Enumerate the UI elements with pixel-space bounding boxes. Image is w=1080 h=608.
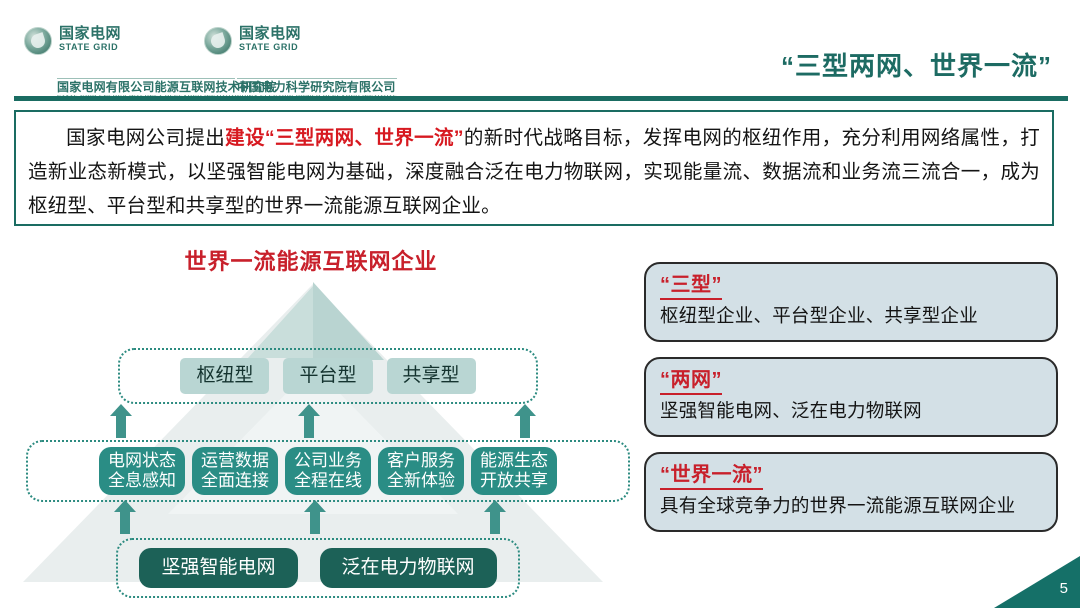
- tier-top-chip-1[interactable]: 枢纽型: [180, 358, 269, 394]
- tier-middle-chip-2[interactable]: 运营数据 全面连接: [192, 447, 278, 495]
- pyramid-tier-top: 枢纽型 平台型 共享型: [118, 348, 538, 404]
- arrow-up-middle-1: [110, 404, 132, 438]
- tier-bottom-chip-2[interactable]: 泛在电力物联网: [320, 548, 497, 588]
- logo-state-grid-cepri: 国家电网 STATE GRID 中国电力科学研究院有限公司 CHINA ELEC…: [204, 26, 301, 55]
- pyramid-diagram: 世界一流能源互联网企业: [0, 234, 622, 594]
- page-number: 5: [1060, 581, 1068, 596]
- tier-middle-chip-3[interactable]: 公司业务 全程在线: [285, 447, 371, 495]
- header-divider: [14, 96, 1068, 101]
- card-shijieyiliu: “世界一流” 具有全球竞争力的世界一流能源互联网企业: [644, 452, 1058, 532]
- tier-middle-chip-1[interactable]: 电网状态 全息感知: [99, 447, 185, 495]
- logo-cn-left: 国家电网: [59, 26, 121, 42]
- tier-top-chip-2[interactable]: 平台型: [283, 358, 372, 394]
- chip-line-2: 全程在线: [294, 471, 362, 491]
- card-liangwang: “两网” 坚强智能电网、泛在电力物联网: [644, 357, 1058, 437]
- paragraph-highlight: 建设“三型两网、世界一流”: [225, 127, 464, 149]
- state-grid-emblem-icon: [24, 27, 52, 55]
- logo-text-right: 国家电网 STATE GRID: [239, 26, 301, 53]
- tier-bottom-chip-1[interactable]: 坚强智能电网: [139, 548, 297, 588]
- diagram-title: 世界一流能源互联网企业: [0, 244, 622, 276]
- page-title: “三型两网、世界一流”: [781, 46, 1052, 83]
- card-title: “两网”: [660, 368, 722, 395]
- summary-paragraph-box: 国家电网公司提出建设“三型两网、世界一流”的新时代战略目标，发挥电网的枢纽作用，…: [14, 110, 1054, 226]
- card-sanxing: “三型” 枢纽型企业、平台型企业、共享型企业: [644, 262, 1058, 342]
- pyramid-tier-middle: 电网状态 全息感知 运营数据 全面连接 公司业务 全程在线 客户服务 全新体验 …: [26, 440, 630, 502]
- tier-top-chip-3[interactable]: 共享型: [387, 358, 476, 394]
- card-body: 枢纽型企业、平台型企业、共享型企业: [660, 304, 1042, 329]
- logo-en-right: STATE GRID: [239, 42, 301, 53]
- tier-middle-chip-4[interactable]: 客户服务 全新体验: [378, 447, 464, 495]
- logo-en-left: STATE GRID: [59, 42, 121, 53]
- arrow-up-middle-3: [514, 404, 536, 438]
- page-number-corner: 5: [994, 556, 1080, 608]
- logo-divider-right: [237, 78, 397, 79]
- chip-line-1: 电网状态: [108, 451, 176, 471]
- card-body: 坚强智能电网、泛在电力物联网: [660, 399, 1042, 424]
- chip-line-1: 公司业务: [294, 451, 362, 471]
- chip-line-2: 全新体验: [387, 471, 455, 491]
- chip-line-1: 能源生态: [480, 451, 548, 471]
- logo-sub-cn-right: 中国电力科学研究院有限公司: [237, 81, 397, 95]
- arrow-up-bottom-1: [114, 500, 136, 534]
- pyramid-graphic: 枢纽型 平台型 共享型 电网状态 全息感知 运营数据 全面连接 公司业务 全程在…: [18, 276, 608, 588]
- definition-cards: “三型” 枢纽型企业、平台型企业、共享型企业 “两网” 坚强智能电网、泛在电力物…: [644, 262, 1058, 547]
- chip-line-1: 客户服务: [387, 451, 455, 471]
- slide-header: 国家电网 STATE GRID 国家电网有限公司能源互联网技术研究院 STATE…: [0, 0, 1080, 96]
- logo-state-grid-eiri: 国家电网 STATE GRID 国家电网有限公司能源互联网技术研究院 STATE…: [24, 26, 121, 55]
- logo-text-left: 国家电网 STATE GRID: [59, 26, 121, 53]
- summary-paragraph-text: 国家电网公司提出建设“三型两网、世界一流”的新时代战略目标，发挥电网的枢纽作用，…: [28, 121, 1040, 223]
- slide: 国家电网 STATE GRID 国家电网有限公司能源互联网技术研究院 STATE…: [0, 0, 1080, 608]
- arrow-up-bottom-2: [304, 500, 326, 534]
- chip-line-2: 开放共享: [480, 471, 548, 491]
- chip-line-1: 运营数据: [201, 451, 269, 471]
- logo-divider-left: [57, 78, 235, 79]
- logo-cn-right: 国家电网: [239, 26, 301, 42]
- pyramid-tier-bottom: 坚强智能电网 泛在电力物联网: [116, 538, 520, 598]
- tier-middle-chip-5[interactable]: 能源生态 开放共享: [471, 447, 557, 495]
- arrow-up-middle-2: [298, 404, 320, 438]
- chip-line-2: 全息感知: [108, 471, 176, 491]
- arrow-up-bottom-3: [484, 500, 506, 534]
- state-grid-emblem-icon: [204, 27, 232, 55]
- card-body: 具有全球竞争力的世界一流能源互联网企业: [660, 494, 1042, 519]
- paragraph-lead: 国家电网公司提出: [66, 127, 225, 149]
- card-title: “世界一流”: [660, 463, 763, 490]
- card-title: “三型”: [660, 273, 722, 300]
- chip-line-2: 全面连接: [201, 471, 269, 491]
